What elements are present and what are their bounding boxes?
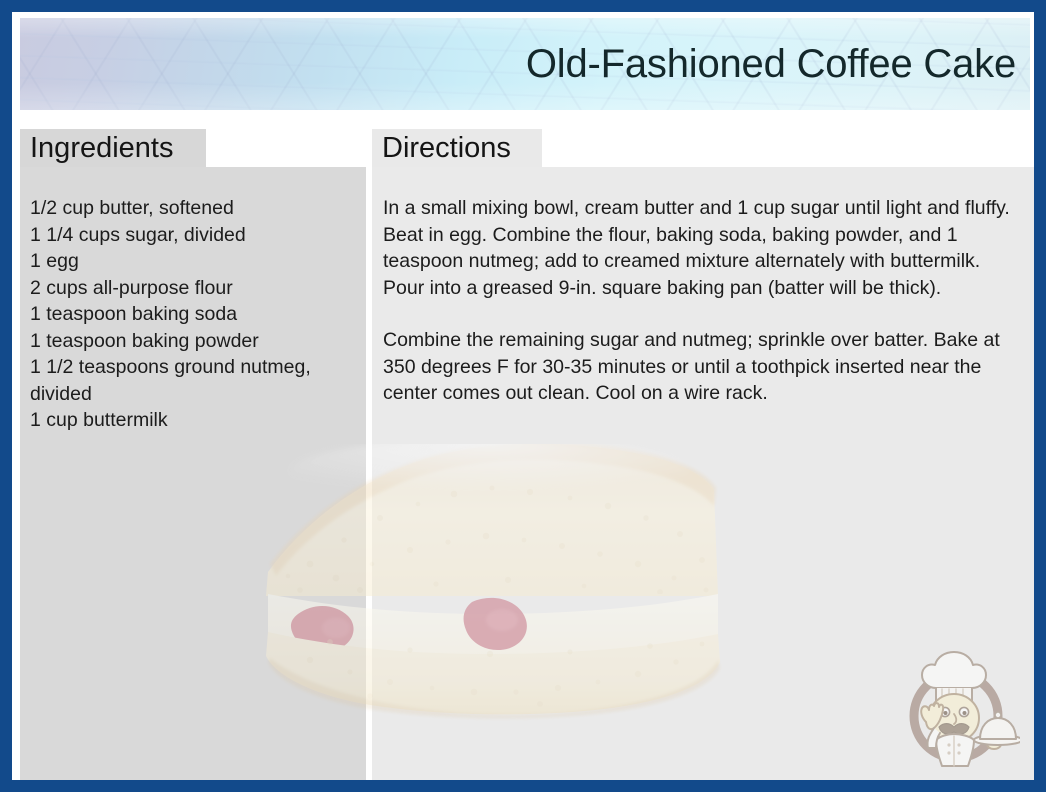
- list-item: 2 cups all-purpose flour: [30, 275, 350, 302]
- recipe-slide: Old-Fashioned Coffee Cake Ingredients 1/…: [0, 0, 1046, 792]
- directions-panel: Directions In a small mixing bowl, cream…: [372, 129, 1038, 784]
- list-item: 1 egg: [30, 248, 350, 275]
- ingredients-body: 1/2 cup butter, softened 1 1/4 cups suga…: [20, 167, 366, 784]
- slide-canvas: Old-Fashioned Coffee Cake Ingredients 1/…: [12, 12, 1034, 780]
- directions-paragraph: In a small mixing bowl, cream butter and…: [383, 195, 1024, 301]
- ingredients-list: 1/2 cup butter, softened 1 1/4 cups suga…: [30, 195, 350, 434]
- page-title: Old-Fashioned Coffee Cake: [526, 43, 1016, 85]
- directions-body: In a small mixing bowl, cream butter and…: [372, 167, 1038, 784]
- directions-heading: Directions: [372, 129, 542, 167]
- ingredients-panel: Ingredients 1/2 cup butter, softened 1 1…: [20, 129, 366, 784]
- list-item: 1/2 cup butter, softened: [30, 195, 350, 222]
- list-item: 1 cup buttermilk: [30, 407, 350, 434]
- ingredients-heading: Ingredients: [20, 129, 206, 167]
- directions-paragraph: Combine the remaining sugar and nutmeg; …: [383, 327, 1024, 407]
- list-item: 1 teaspoon baking powder: [30, 328, 350, 355]
- title-banner: Old-Fashioned Coffee Cake: [20, 18, 1030, 110]
- list-item: 1 1/2 teaspoons ground nutmeg, divided: [30, 354, 350, 407]
- list-item: 1 teaspoon baking soda: [30, 301, 350, 328]
- list-item: 1 1/4 cups sugar, divided: [30, 222, 350, 249]
